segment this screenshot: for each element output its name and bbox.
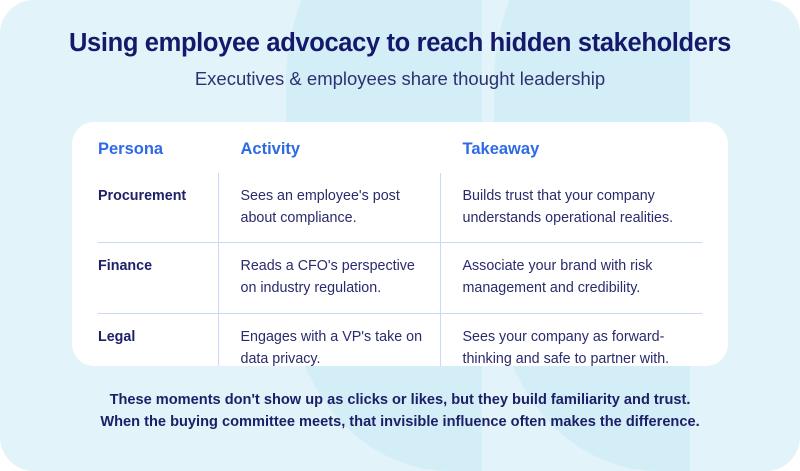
column-header-takeaway: Takeaway [440,122,702,173]
table-header: Persona Activity Takeaway [98,122,702,173]
cell-takeaway: Builds trust that your company understan… [440,173,702,243]
slide-header: Using employee advocacy to reach hidden … [0,0,800,90]
table-row: Procurement Sees an employee's post abou… [98,173,702,243]
page-subtitle: Executives & employees share thought lea… [0,68,800,90]
persona-table: Persona Activity Takeaway Procurement Se… [98,122,702,366]
table-body: Procurement Sees an employee's post abou… [98,173,702,366]
cell-persona: Procurement [98,173,218,243]
slide-canvas: Using employee advocacy to reach hidden … [0,0,800,471]
slide-footer: These moments don't show up as clicks or… [0,390,800,434]
column-header-persona: Persona [98,122,218,173]
cell-persona: Finance [98,243,218,313]
table-row: Finance Reads a CFO's perspective on ind… [98,243,702,313]
cell-takeaway: Associate your brand with risk managemen… [440,243,702,313]
footer-line-2: When the buying committee meets, that in… [0,412,800,434]
page-title: Using employee advocacy to reach hidden … [0,28,800,59]
footer-line-1: These moments don't show up as clicks or… [0,390,800,412]
column-header-activity: Activity [218,122,440,173]
cell-persona: Legal [98,313,218,366]
table-header-row: Persona Activity Takeaway [98,122,702,173]
content-card: Persona Activity Takeaway Procurement Se… [72,122,728,366]
cell-takeaway: Sees your company as forward-thinking an… [440,313,702,366]
cell-activity: Engages with a VP's take on data privacy… [218,313,440,366]
cell-activity: Sees an employee's post about compliance… [218,173,440,243]
table-row: Legal Engages with a VP's take on data p… [98,313,702,366]
cell-activity: Reads a CFO's perspective on industry re… [218,243,440,313]
